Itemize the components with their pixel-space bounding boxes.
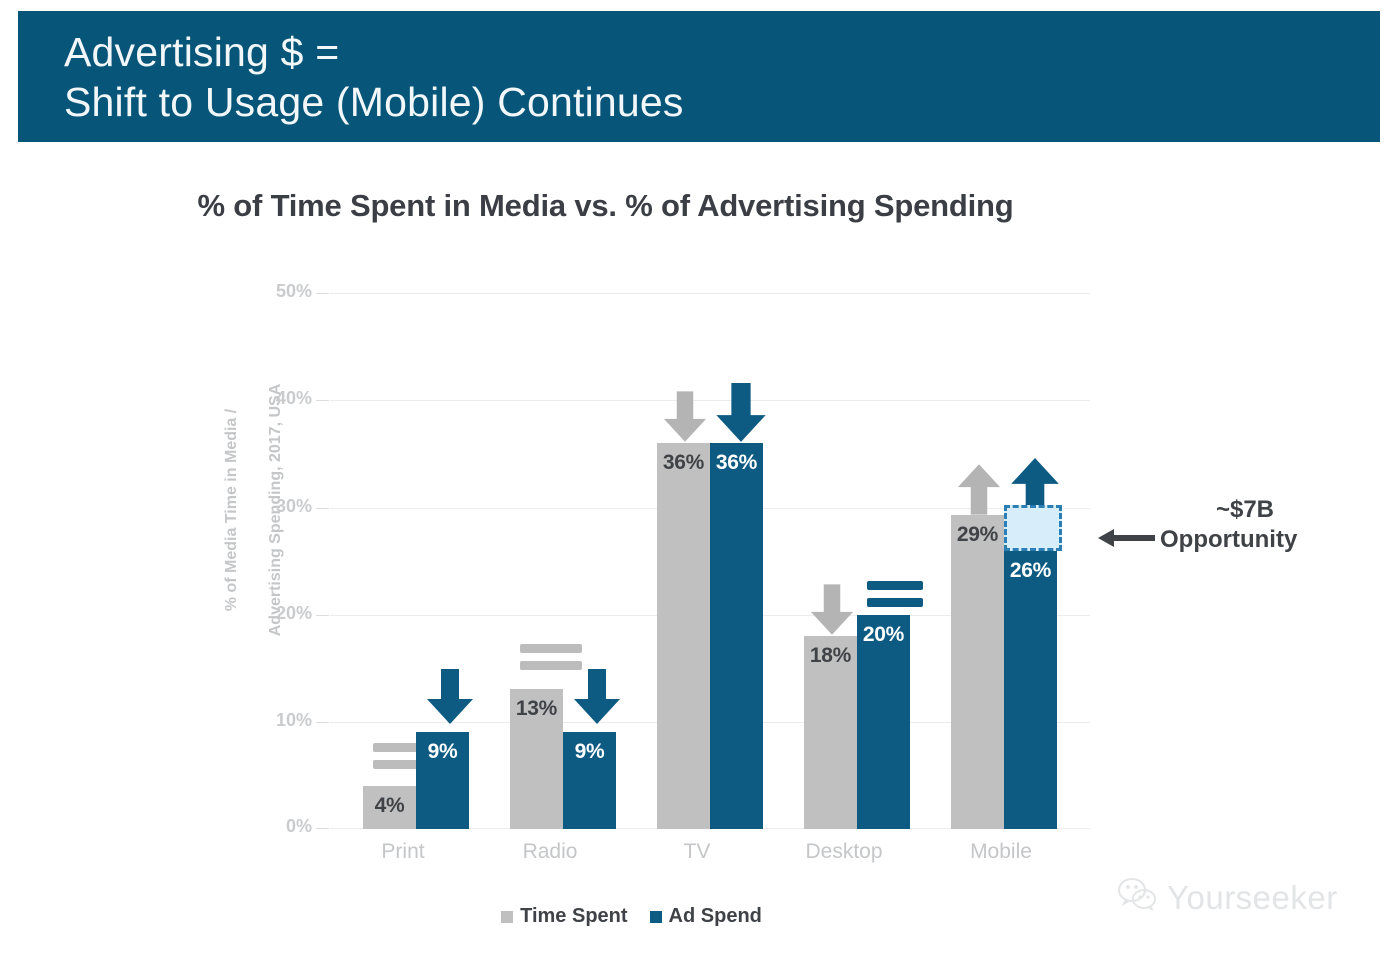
bar-ad-spend-tv: 36% <box>710 443 763 829</box>
legend-item-time-spent[interactable]: Time Spent <box>501 905 627 928</box>
bar-ad-spend-radio: 9% <box>563 732 616 829</box>
legend-swatch-icon <box>501 911 513 923</box>
y-tick-label-0: 0% <box>256 816 312 837</box>
y-tick-label-40: 40% <box>256 388 312 409</box>
arrow-down-icon <box>573 669 621 725</box>
bar-time-spent-mobile: 29% <box>951 515 1004 829</box>
bar-value-label: 36% <box>657 451 710 475</box>
x-axis-label-desktop: Desktop <box>774 840 914 864</box>
arrow-down-icon <box>810 584 854 636</box>
bar-value-label: 9% <box>416 740 469 764</box>
bar-group-radio: 13% 9% <box>510 293 650 829</box>
bar-value-label: 13% <box>510 697 563 721</box>
page-title: Advertising $ = Shift to Usage (Mobile) … <box>64 27 684 127</box>
wechat-icon <box>1118 878 1158 917</box>
arrow-up-icon <box>957 463 1001 515</box>
arrow-down-icon <box>426 669 474 725</box>
bar-value-label: 4% <box>363 794 416 818</box>
tickmark-50 <box>316 293 329 294</box>
bar-time-spent-print: 4% <box>363 786 416 829</box>
slide-canvas: Advertising $ = Shift to Usage (Mobile) … <box>0 0 1399 960</box>
bar-ad-spend-mobile: 26% <box>1004 551 1057 829</box>
arrow-left-icon <box>1098 527 1156 554</box>
y-axis-label: % of Media Time in Media / Advertising S… <box>199 330 261 690</box>
opportunity-amount: ~$7B <box>1140 496 1350 524</box>
bar-time-spent-desktop: 18% <box>804 636 857 829</box>
bar-group-desktop: 18% 20% <box>804 293 944 829</box>
bar-time-spent-tv: 36% <box>657 443 710 829</box>
y-tick-label-50: 50% <box>256 281 312 302</box>
bar-ad-spend-print: 9% <box>416 732 469 829</box>
opportunity-annotation: ~$7B Opportunity <box>1098 496 1350 554</box>
equals-icon <box>867 581 923 607</box>
bar-group-mobile: 29% 26% <box>951 293 1111 829</box>
y-axis-label-line1: % of Media Time in Media / <box>221 330 243 690</box>
y-tick-label-30: 30% <box>256 496 312 517</box>
tickmark-10 <box>316 722 329 723</box>
x-axis-label-tv: TV <box>627 840 767 864</box>
header-banner: Advertising $ = Shift to Usage (Mobile) … <box>18 11 1380 142</box>
legend-label: Time Spent <box>520 905 627 928</box>
bar-value-label: 29% <box>951 523 1004 547</box>
legend-swatch-icon <box>650 911 662 923</box>
arrow-down-icon <box>663 391 707 443</box>
bar-value-label: 26% <box>1004 559 1057 583</box>
opportunity-box <box>1004 505 1062 551</box>
equals-icon <box>520 644 582 670</box>
bar-value-label: 18% <box>804 644 857 668</box>
arrow-down-icon <box>715 383 767 443</box>
bar-value-label: 36% <box>710 451 763 475</box>
bar-value-label: 9% <box>563 740 616 764</box>
bar-time-spent-radio: 13% <box>510 689 563 829</box>
watermark: Yourseeker <box>1118 878 1338 917</box>
y-tick-label-20: 20% <box>256 603 312 624</box>
bar-value-label: 20% <box>857 623 910 647</box>
tickmark-40 <box>316 400 329 401</box>
tickmark-30 <box>316 508 329 509</box>
bar-ad-spend-desktop: 20% <box>857 615 910 829</box>
watermark-text: Yourseeker <box>1167 879 1338 917</box>
x-axis-label-mobile: Mobile <box>921 840 1081 864</box>
plot-area: 50% 40% 30% 20% 10% 0% 4% 9% <box>330 293 1090 829</box>
legend-label: Ad Spend <box>669 905 762 928</box>
x-axis-label-print: Print <box>333 840 473 864</box>
bar-group-tv: 36% 36% <box>657 293 797 829</box>
y-tick-label-10: 10% <box>256 710 312 731</box>
opportunity-label: Opportunity <box>1160 526 1297 554</box>
tickmark-0 <box>316 828 329 829</box>
bar-group-print: 4% 9% <box>363 293 503 829</box>
chart-title: % of Time Spent in Media vs. % of Advert… <box>0 188 1305 224</box>
tickmark-20 <box>316 615 329 616</box>
legend-item-ad-spend[interactable]: Ad Spend <box>650 905 762 928</box>
x-axis-label-radio: Radio <box>480 840 620 864</box>
